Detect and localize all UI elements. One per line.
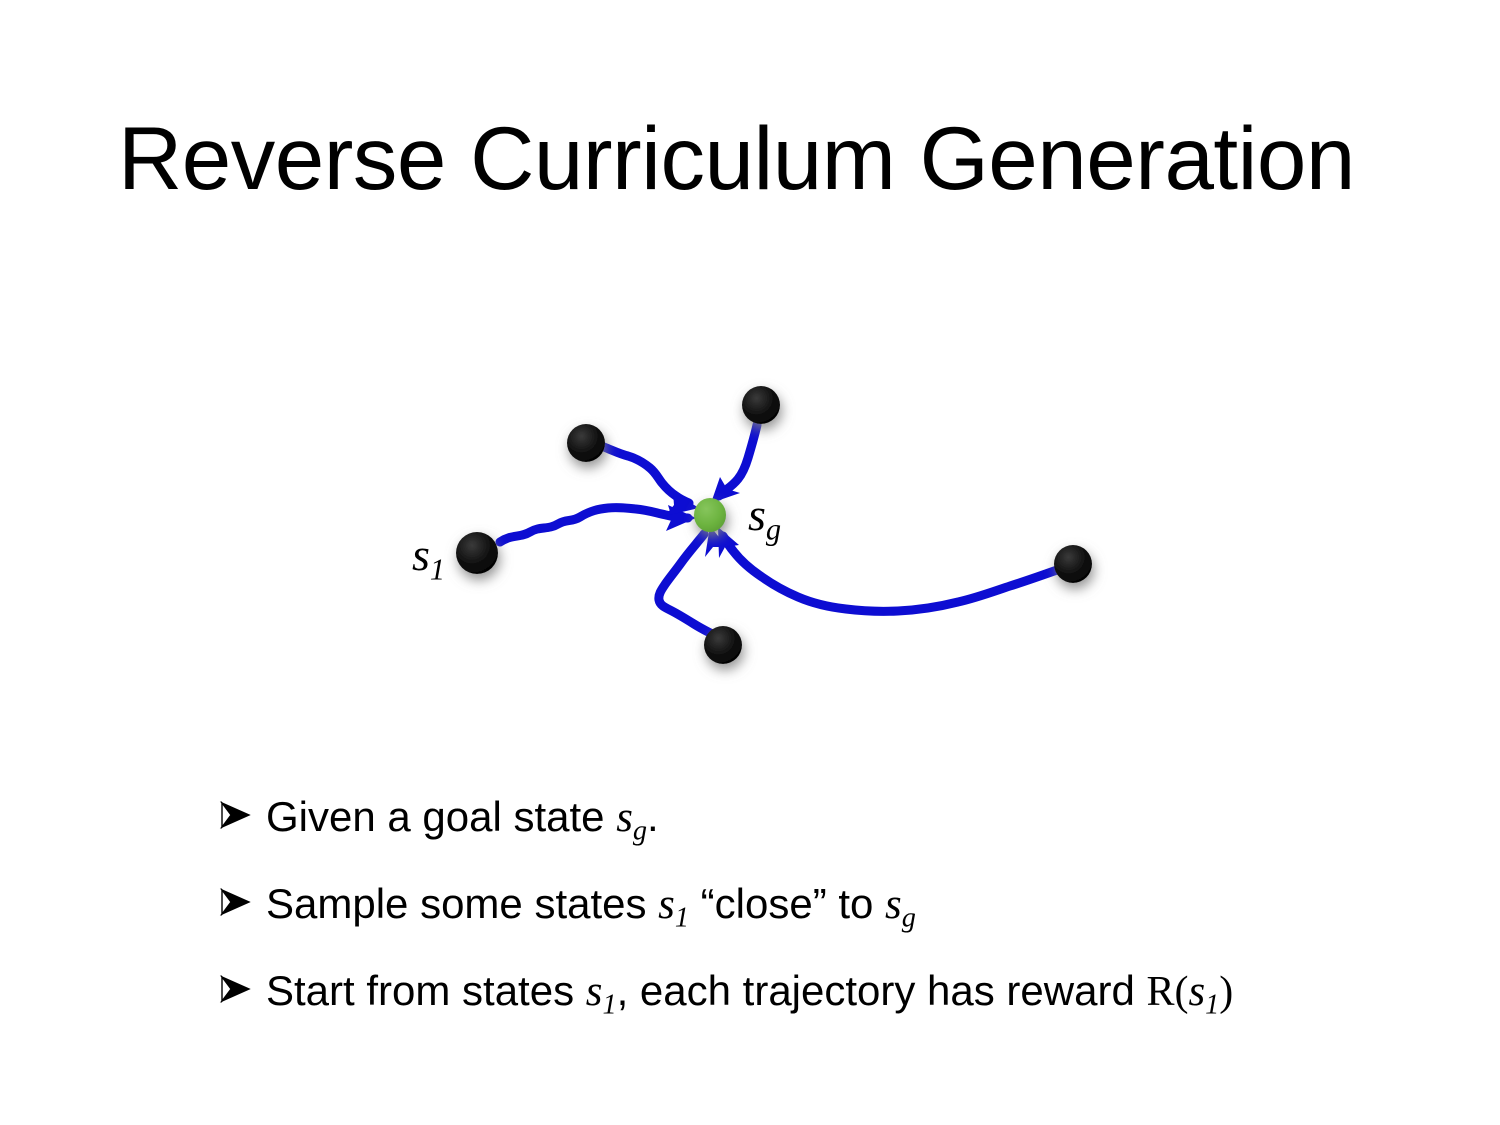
math-variable: s1 bbox=[1188, 968, 1219, 1015]
start-node-top[interactable] bbox=[742, 386, 780, 424]
trajectory-from-s1 bbox=[500, 508, 688, 542]
text-run: , each trajectory has reward bbox=[617, 967, 1147, 1014]
label-s1-subscript: 1 bbox=[430, 553, 445, 587]
slide-canvas: Reverse Curriculum Generation bbox=[0, 0, 1500, 1125]
bullet-item-1: Given a goal state sg. bbox=[218, 792, 1448, 848]
label-sg-subscript: g bbox=[766, 513, 781, 547]
math-variable-subscript: 1 bbox=[1205, 989, 1219, 1020]
start-node-bottom[interactable] bbox=[704, 626, 742, 664]
math-variable-subscript: 1 bbox=[602, 989, 616, 1020]
arrowhead-bullet-icon bbox=[218, 972, 260, 1006]
bullet-list: Given a goal state sg. Sample some state… bbox=[218, 792, 1448, 1052]
arrowhead-bullet-icon bbox=[218, 798, 260, 832]
label-s1: s1 bbox=[412, 532, 445, 585]
bullet-text-2: Sample some states s1 “close” to sg bbox=[266, 879, 1448, 935]
math-variable: sg bbox=[616, 794, 647, 841]
math-variable: s1 bbox=[658, 881, 689, 928]
math-variable-base: s bbox=[885, 881, 902, 928]
math-variable-subscript: g bbox=[902, 902, 916, 933]
math-variable-base: s bbox=[658, 881, 675, 928]
label-sg-base: s bbox=[748, 489, 766, 540]
text-run: . bbox=[647, 793, 659, 840]
math-roman: ) bbox=[1219, 969, 1233, 1015]
math-variable-base: s bbox=[586, 968, 603, 1015]
math-variable: sg bbox=[885, 881, 916, 928]
start-node-right[interactable] bbox=[1054, 545, 1092, 583]
bullet-text-3: Start from states s1, each trajectory ha… bbox=[266, 966, 1448, 1022]
math-variable-subscript: g bbox=[633, 815, 647, 846]
arrowhead-bullet-icon bbox=[218, 885, 260, 919]
text-run: Given a goal state bbox=[266, 793, 616, 840]
math-variable-subscript: 1 bbox=[675, 902, 689, 933]
math-variable-base: s bbox=[1188, 968, 1205, 1015]
math-variable-base: s bbox=[616, 794, 633, 841]
trajectory-from-right bbox=[723, 536, 1057, 611]
label-sg: sg bbox=[748, 492, 781, 545]
text-run: Start from states bbox=[266, 967, 586, 1014]
math-roman: R( bbox=[1146, 969, 1188, 1015]
label-s1-base: s bbox=[412, 529, 430, 580]
text-run: Sample some states bbox=[266, 880, 658, 927]
math-variable: s1 bbox=[586, 968, 617, 1015]
bullet-text-1: Given a goal state sg. bbox=[266, 792, 1448, 848]
bullet-item-3: Start from states s1, each trajectory ha… bbox=[218, 966, 1448, 1022]
start-node-upper-left[interactable] bbox=[567, 424, 605, 462]
goal-node-group bbox=[694, 498, 726, 532]
bullet-item-2: Sample some states s1 “close” to sg bbox=[218, 879, 1448, 935]
start-node-s1[interactable] bbox=[456, 532, 498, 574]
goal-node[interactable] bbox=[694, 498, 726, 532]
text-run: “close” to bbox=[689, 880, 885, 927]
